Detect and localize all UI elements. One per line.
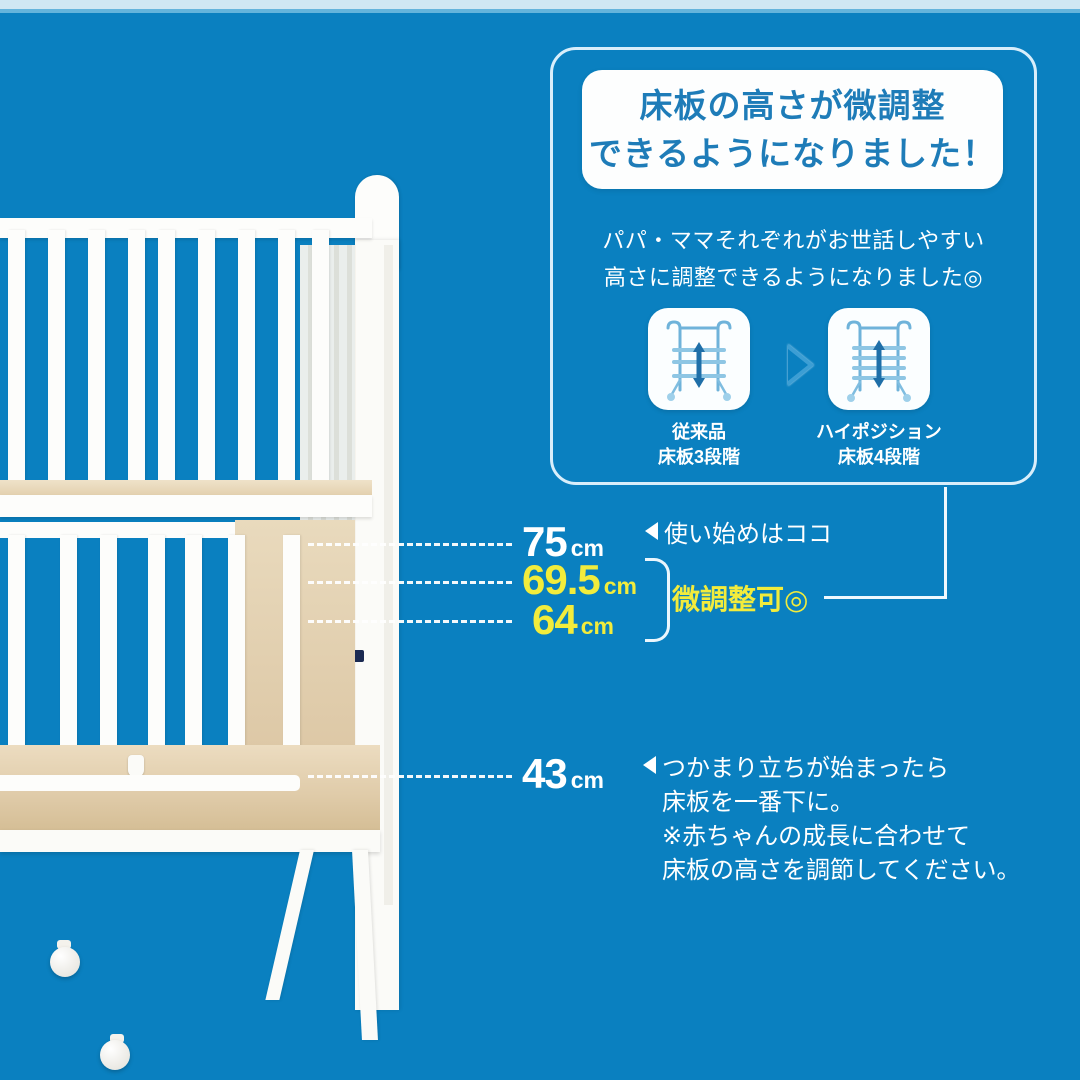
top-border-strip: [0, 0, 1080, 9]
annotation-text: つかまり立ちが始まったら: [662, 755, 949, 782]
headline-line-1: 床板の高さが微調整: [640, 82, 946, 130]
range-brace: [645, 558, 670, 642]
crib-slat: [198, 230, 215, 508]
crib-knob: [128, 755, 144, 777]
leader-line-43: [308, 775, 512, 778]
caption-line-2: 床板3段階: [604, 445, 794, 470]
crib-post-edge: [384, 245, 393, 905]
leader-line-64: [308, 620, 512, 623]
measurement-value: 43: [522, 750, 567, 797]
caption-line-1: 従来品: [604, 420, 794, 445]
crib-slat: [88, 230, 105, 508]
bottom-note-line-4: 床板の高さを調節してください。: [643, 854, 1021, 888]
caption-conventional: 従来品 床板3段階: [604, 420, 794, 470]
measurement-64: 64cm: [532, 596, 614, 644]
triangle-pointer-icon: [645, 522, 658, 540]
caption-line-2: 床板4段階: [784, 445, 974, 470]
crib-leg-diagonal: [265, 850, 314, 1000]
crib-slat: [278, 230, 295, 508]
crib-slat: [48, 230, 65, 508]
crib-slat: [128, 230, 145, 508]
measurement-value: 64: [532, 596, 577, 643]
annotation-fine-adjust: 微調整可◎: [672, 578, 808, 618]
caption-line-1: ハイポジション: [784, 420, 974, 445]
crib-3-level-glyph: [648, 308, 750, 410]
callout-subtitle: パパ・ママそれぞれがお世話しやすい 高さに調整できるようになりました◎: [550, 222, 1037, 296]
caption-high-position: ハイポジション 床板4段階: [784, 420, 974, 470]
infographic-canvas: 75cm 69.5cm 64cm 43cm 使い始めはココ 微調整可◎ つかまり…: [0, 0, 1080, 1080]
crib-3-level-icon: [648, 308, 750, 410]
crib-middle-rail: [0, 495, 372, 517]
top-border-strip-secondary: [0, 9, 1080, 13]
caster-wheel: [100, 1040, 130, 1070]
comparison-icons: 従来品 床板3段階: [550, 308, 1037, 478]
crib-bottom-rail: [0, 775, 300, 791]
crib-slat: [238, 230, 255, 508]
connector-line-vertical: [944, 487, 947, 599]
headline-card: 床板の高さが微調整 できるようになりました！: [582, 70, 1003, 189]
crib-slat: [312, 230, 329, 508]
measurement-unit: cm: [581, 613, 614, 639]
crib-4-level-glyph: [828, 308, 930, 410]
annotation-bottom-note: つかまり立ちが始まったら 床板を一番下に。 ※赤ちゃんの成長に合わせて 床板の高…: [643, 752, 1021, 888]
play-triangle-icon: [788, 344, 814, 386]
bottom-note-line-3: ※赤ちゃんの成長に合わせて: [643, 820, 1021, 854]
subtitle-line-1: パパ・ママそれぞれがお世話しやすい: [550, 222, 1037, 259]
crib-slat: [8, 230, 25, 508]
triangle-pointer-icon: [643, 756, 656, 774]
crib-product-image: [0, 150, 470, 1080]
crib-base-rail: [0, 830, 380, 852]
crib-slat: [158, 230, 175, 508]
leader-line-69-5: [308, 581, 512, 584]
bottom-note-line-2: 床板を一番下に。: [643, 786, 1021, 820]
annotation-start-here: 使い始めはココ: [645, 518, 832, 552]
connector-line-horizontal: [824, 596, 946, 599]
caster-wheel: [50, 947, 80, 977]
leader-line-75: [308, 543, 512, 546]
headline-line-2: できるようになりました！: [589, 130, 996, 178]
annotation-text: 使い始めはココ: [664, 521, 832, 548]
bottom-note-line-1: つかまり立ちが始まったら: [643, 752, 1021, 786]
subtitle-line-2: 高さに調整できるようになりました◎: [550, 259, 1037, 296]
measurement-unit: cm: [571, 767, 604, 793]
crib-4-level-icon: [828, 308, 930, 410]
measurement-43: 43cm: [522, 750, 604, 798]
